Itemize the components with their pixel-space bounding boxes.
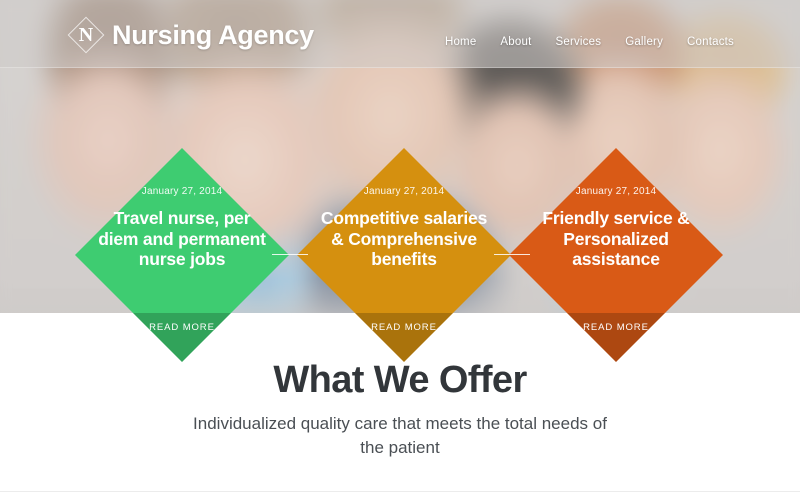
- card-connector-line: [272, 254, 308, 255]
- nav-item-gallery[interactable]: Gallery: [625, 36, 663, 48]
- nav-item-about[interactable]: About: [500, 36, 531, 48]
- feature-card-friendly-service[interactable]: January 27, 2014 Friendly service & Pers…: [509, 148, 723, 362]
- nav-item-contacts[interactable]: Contacts: [687, 36, 734, 48]
- site-header: N Nursing Agency Home About Services Gal…: [0, 0, 800, 68]
- diamond-footer-band: [75, 313, 289, 362]
- diamond-footer-band: [297, 313, 511, 362]
- read-more-link[interactable]: READ MORE: [297, 322, 511, 333]
- logo-letter: N: [66, 15, 106, 55]
- feature-card-salaries[interactable]: January 27, 2014 Competitive salaries & …: [297, 148, 511, 362]
- brand-logo[interactable]: N Nursing Agency: [66, 15, 314, 55]
- read-more-link[interactable]: READ MORE: [509, 322, 723, 333]
- page-root: N Nursing Agency Home About Services Gal…: [0, 0, 800, 500]
- feature-card-travel-nurse[interactable]: January 27, 2014 Travel nurse, per diem …: [75, 148, 289, 362]
- card-connector-line: [494, 254, 530, 255]
- bottom-divider: [0, 491, 800, 492]
- diamond-footer-band: [509, 313, 723, 362]
- brand-name: Nursing Agency: [112, 20, 314, 51]
- page-subtitle: Individualized quality care that meets t…: [180, 412, 620, 460]
- main-navigation: Home About Services Gallery Contacts: [445, 36, 734, 48]
- diamond-outline-icon: N: [66, 15, 106, 55]
- read-more-link[interactable]: READ MORE: [75, 322, 289, 333]
- nav-item-services[interactable]: Services: [555, 36, 601, 48]
- nav-item-home[interactable]: Home: [445, 36, 476, 48]
